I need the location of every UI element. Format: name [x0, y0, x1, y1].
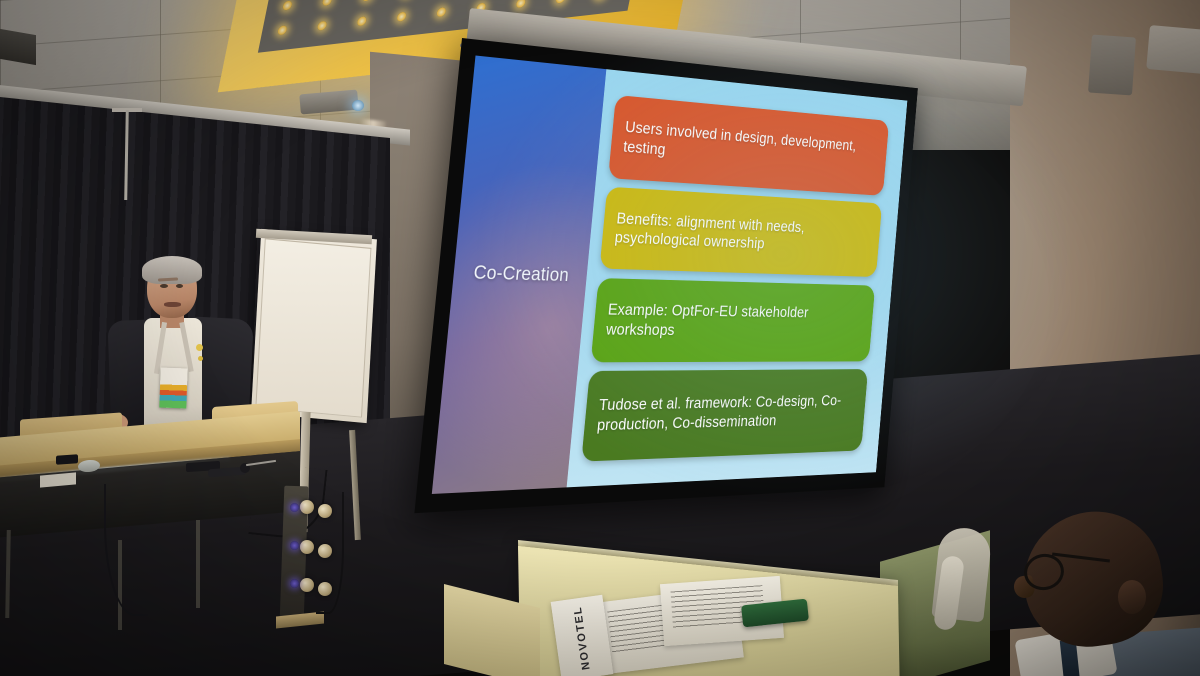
slide-box-text: Users involved in design, development, t…	[622, 118, 877, 175]
ceiling-spotlight-icon	[515, 0, 526, 8]
presenter-mouth	[164, 302, 181, 307]
projection-screen: Co-Creation Users involved in design, de…	[414, 38, 918, 513]
air-conditioner-unit	[1146, 25, 1200, 75]
indicator-led-icon	[290, 541, 299, 550]
ceiling-spotlight-icon	[282, 0, 293, 10]
device-black[interactable]	[56, 454, 78, 465]
ceiling-vent	[0, 29, 36, 65]
slide-box-text: Tudose et al. framework: Co-design, Co-p…	[596, 392, 856, 436]
lapel-pin-icon	[198, 356, 203, 361]
ceiling-spotlight-icon	[396, 12, 407, 22]
audience-person	[1000, 506, 1200, 676]
presenter-eye-left	[160, 284, 168, 288]
connector-icon[interactable]	[300, 540, 314, 554]
slide-section-title: Co-Creation	[472, 263, 569, 287]
slide-bullet-column: Users involved in design, development, t…	[567, 69, 907, 487]
slide-box-text: Benefits: alignment with needs, psycholo…	[614, 209, 871, 258]
novotel-brand-label: NOVOTEL	[572, 605, 593, 670]
slide-box-dark-green: Tudose et al. framework: Co-design, Co-p…	[582, 369, 869, 461]
projector-lens-icon	[352, 100, 364, 111]
connector-icon[interactable]	[300, 500, 314, 514]
novotel-notepad: NOVOTEL	[551, 595, 614, 676]
lapel-pin-icon	[196, 344, 203, 351]
conference-room-photo: Co-Creation Users involved in design, de…	[0, 0, 1200, 676]
flipchart-paper	[255, 238, 371, 417]
ceiling-spotlight-icon	[361, 0, 372, 2]
slide-content: Co-Creation Users involved in design, de…	[432, 56, 908, 494]
conference-badge	[159, 368, 187, 409]
table-leg	[196, 520, 200, 608]
presenter-eye-right	[176, 284, 183, 288]
slide-box-orange: Users involved in design, development, t…	[608, 95, 889, 196]
indicator-led-icon	[290, 579, 299, 588]
connector-icon[interactable]	[300, 578, 314, 592]
audience-ear	[1118, 580, 1146, 614]
ceiling-spotlight-icon	[356, 16, 367, 26]
ceiling-spotlight-icon	[317, 21, 328, 31]
ceiling-spotlight-icon	[277, 25, 288, 35]
slide-box-text: Example: OptFor-EU stakeholder workshops	[605, 300, 864, 341]
slide-box-light-green: Example: OptFor-EU stakeholder workshops	[591, 278, 875, 362]
indicator-led-icon	[290, 503, 299, 512]
ceiling-spotlight-icon	[555, 0, 566, 4]
wall-speaker	[1088, 35, 1136, 96]
slide-box-yellow: Benefits: alignment with needs, psycholo…	[600, 187, 882, 277]
ceiling-spotlight-icon	[436, 7, 447, 17]
ceiling-spotlight-icon	[322, 0, 333, 6]
